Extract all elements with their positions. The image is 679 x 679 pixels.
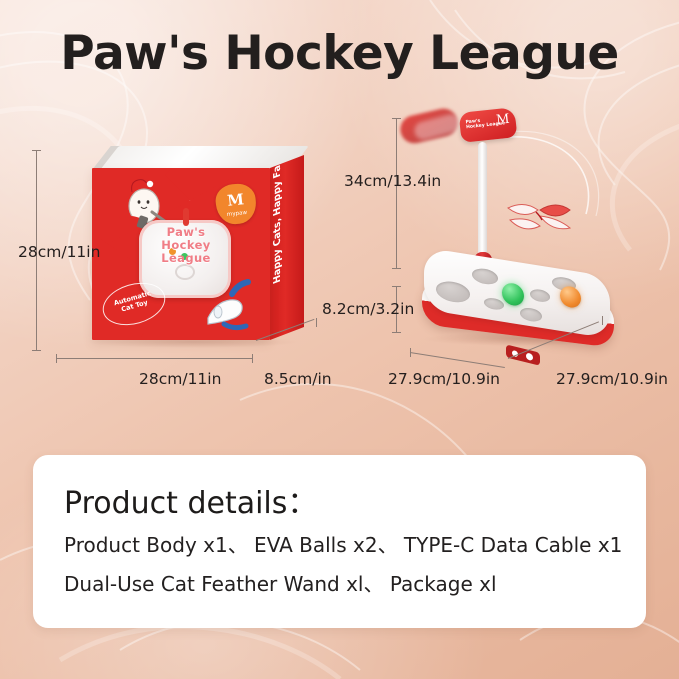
product-device: M Paw's Hockey League: [404, 104, 644, 352]
details-line-2: Dual-Use Cat Feather Wand xl、 Package xl: [64, 568, 497, 597]
box-height-label: 28cm/11in: [18, 243, 100, 261]
details-line-1: Product Body x1、 EVA Balls x2、 TYPE-C Da…: [64, 529, 622, 558]
paddle-text: Paw's Hockey League: [465, 116, 505, 131]
ball-green: [502, 282, 524, 307]
device-height-tick-top: [392, 118, 401, 119]
box-width-dim-line: [56, 358, 252, 359]
glove-stick-illustration-icon: [198, 278, 260, 334]
device-base-height-tick-bottom: [392, 332, 401, 333]
device-base-height-tick-top: [392, 286, 401, 287]
ball-orange: [560, 285, 581, 309]
box-front-title-line1: Paw's: [167, 225, 206, 239]
port-light-2: [526, 352, 533, 361]
box-width-tick-right: [252, 354, 253, 363]
device-base: [416, 262, 622, 344]
device-height-tick-bottom: [392, 268, 401, 269]
page-title: Paw's Hockey League: [0, 26, 679, 81]
box-render-ring: [175, 264, 195, 280]
paddle-head: M Paw's Hockey League: [459, 107, 518, 143]
ball-hole-4: [520, 306, 542, 322]
box-height-tick-top: [32, 150, 41, 151]
product-details-card: Product details： Product Body x1、 EVA Ba…: [33, 455, 646, 628]
box-front-title-line2: Hockey League: [161, 238, 211, 265]
box-height-tick-bottom: [32, 350, 41, 351]
feather-wand-icon: [502, 194, 576, 240]
box-render-pole: [183, 208, 189, 226]
ball-hole-2: [472, 267, 498, 286]
box-depth-tick: [316, 318, 317, 327]
badge-mark: M: [215, 189, 257, 211]
device-width-tick: [410, 348, 411, 357]
device-depth-label: 27.9cm/10.9in: [556, 370, 668, 388]
box-front-title: Paw's Hockey League: [136, 226, 236, 265]
box-width-tick-left: [56, 354, 57, 363]
device-depth-tick: [602, 316, 603, 325]
ball-hole-3: [484, 297, 504, 311]
box-side-face: Happy Cats, Happy Family!: [270, 155, 304, 340]
box-depth-label: 8.5cm/in: [264, 370, 332, 388]
box-width-label: 28cm/11in: [139, 370, 221, 388]
device-height-label: 34cm/13.4in: [344, 172, 441, 190]
ball-hole-5: [530, 288, 550, 303]
package-box: Happy Cats, Happy Family!: [84, 146, 306, 351]
product-infographic: Paw's Hockey League Happy Cats, Happy Fa…: [0, 0, 679, 679]
details-heading: Product details：: [64, 478, 317, 522]
device-width-label: 27.9cm/10.9in: [388, 370, 500, 388]
ball-hole-1: [436, 279, 470, 304]
device-height-dim-line: [396, 118, 397, 268]
box-side-text: Happy Cats, Happy Family!: [272, 155, 283, 285]
device-base-height-label: 8.2cm/3.2in: [322, 300, 414, 318]
